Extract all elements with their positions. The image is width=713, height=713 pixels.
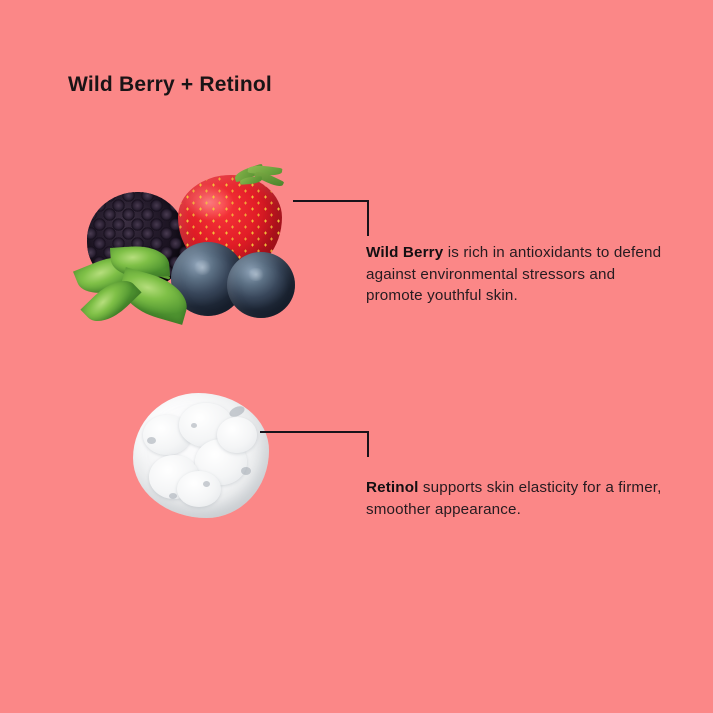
product-ingredient-infographic: Wild Berry + Retinol [0, 0, 713, 713]
connector-berry-horizontal [293, 200, 369, 202]
ingredient-name-retinol: Retinol [366, 479, 419, 496]
mint-leaves-icon [75, 242, 199, 338]
ingredient-description-wild-berry: Wild Berry is rich in antioxidants to de… [366, 242, 666, 307]
cream-shadow-3 [203, 481, 210, 487]
cream-swatch-icon [133, 393, 269, 518]
cream-shadow-2 [147, 437, 156, 444]
page-title: Wild Berry + Retinol [68, 73, 272, 97]
connector-retinol-horizontal [260, 431, 369, 433]
ingredient-name-wild-berry: Wild Berry [366, 244, 443, 261]
retinol-cream-image [133, 393, 269, 518]
cream-shadow-4 [241, 467, 251, 475]
berry-cluster-image [75, 160, 305, 340]
blueberry-icon-2 [227, 252, 295, 318]
cream-texture [133, 393, 269, 518]
ingredient-description-retinol: Retinol supports skin elasticity for a f… [366, 477, 666, 520]
strawberry-calyx-leaf-icon [234, 166, 286, 196]
connector-berry-vertical [367, 200, 369, 236]
cream-blob-6 [217, 417, 257, 453]
connector-retinol-vertical [367, 431, 369, 457]
cream-shadow-5 [169, 493, 177, 499]
cream-shadow-6 [191, 423, 197, 428]
cream-blob-5 [177, 471, 221, 507]
